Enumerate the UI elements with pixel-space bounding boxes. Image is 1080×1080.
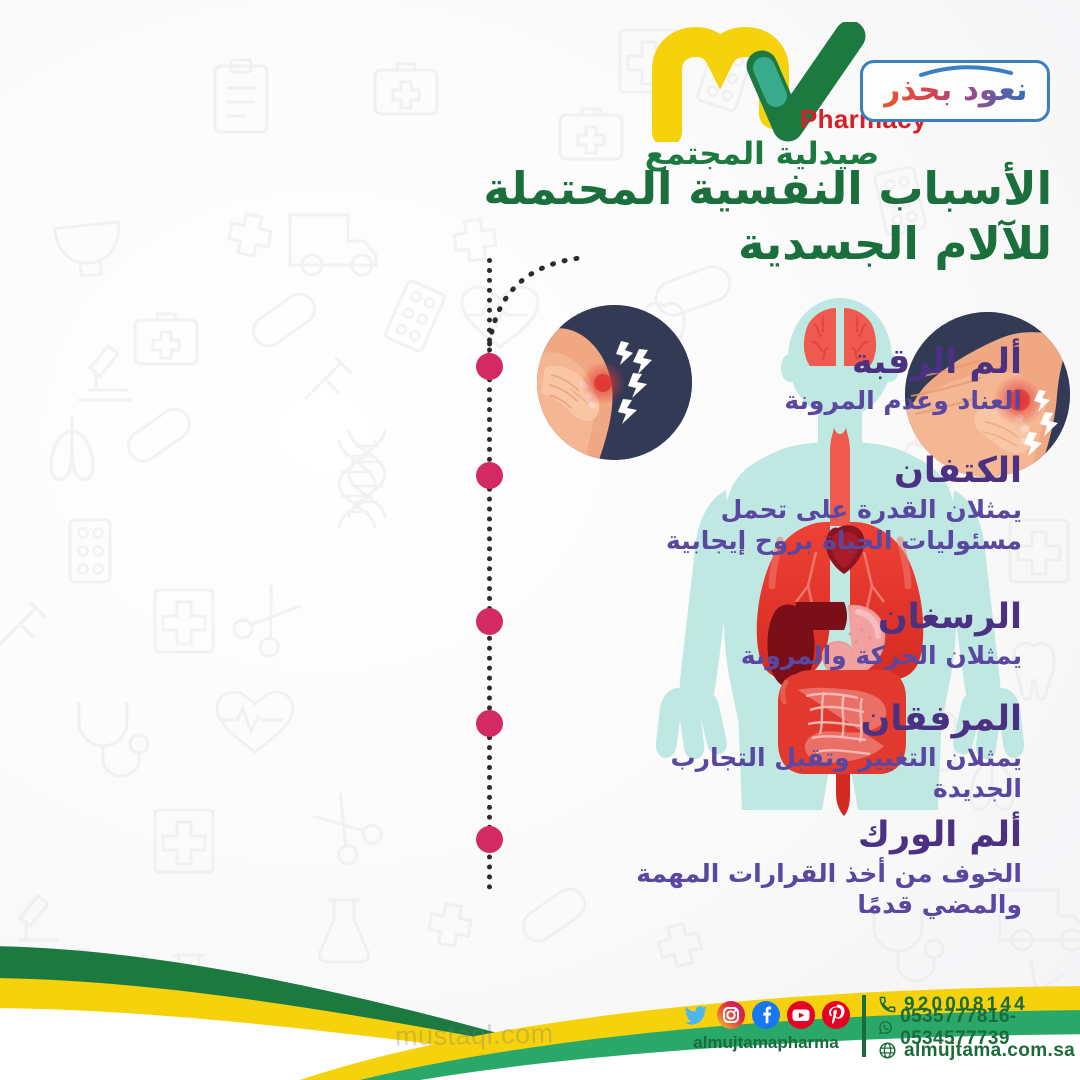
facebook-icon[interactable]	[751, 1000, 781, 1030]
badge-swoosh-icon	[861, 63, 1047, 121]
social-handle: almujtamapharma	[676, 1033, 856, 1053]
list-item-title: الرسغان	[592, 597, 1022, 638]
page-title-line2: للآلام الجسدية	[432, 217, 1052, 272]
timeline-dot-3	[476, 608, 503, 635]
list-item-desc: يمثلان القدرة على تحمل مسئوليات الحياة ب…	[592, 494, 1022, 557]
svg-text:صيدلية المجتمع ..... ا: صيدلية المجتمع ..... الريادة في خدمة الم…	[430, 862, 444, 869]
contact-row-whatsapp[interactable]: 0535777816-0534577739	[878, 1016, 1080, 1039]
list-item: الكتفان يمثلان القدرة على تحمل مسئوليات …	[592, 451, 1022, 557]
twitter-icon[interactable]	[681, 1000, 711, 1030]
timeline-dot-2	[476, 462, 503, 489]
list-item-title: ألم الرقبة	[592, 342, 1022, 383]
page-title-line1: الأسباب النفسية المحتملة	[432, 162, 1052, 217]
slogan-green-part: صيدلية المجتمع .....	[430, 862, 443, 869]
social-media-block: almujtamapharma	[676, 1000, 856, 1053]
youtube-icon[interactable]	[786, 1000, 816, 1030]
contact-row-website[interactable]: almujtama.com.sa	[878, 1039, 1080, 1062]
timeline-dot-4	[476, 710, 503, 737]
list-item: ألم الرقبة العناد وعدم المرونة	[592, 342, 1022, 416]
list-item-title: الكتفان	[592, 451, 1022, 492]
page-title: الأسباب النفسية المحتملة للآلام الجسدية	[432, 162, 1052, 272]
list-item-title: المرفقان	[592, 699, 1022, 740]
whatsapp-icon	[878, 1018, 893, 1037]
phone-icon	[878, 995, 897, 1014]
list-item: الرسغان يمثلان الحركة والمرونة	[592, 597, 1022, 671]
list-item-title: ألم الورك	[592, 815, 1022, 856]
slogan-yellow-part: الريادة في خدمة المجتمع	[430, 862, 444, 869]
website-url: almujtama.com.sa	[904, 1040, 1075, 1062]
list-item: ألم الورك الخوف من أخذ القرارات المهمة و…	[592, 815, 1022, 921]
instagram-icon[interactable]	[716, 1000, 746, 1030]
list-item-desc: الخوف من أخذ القرارات المهمة والمضي قدمً…	[592, 858, 1022, 921]
contact-details: 920008144 0535777816-0534577739 almujtam…	[878, 993, 1080, 1062]
timeline-dot-5	[476, 826, 503, 853]
return-with-caution-badge: نعود بحذر	[860, 60, 1050, 122]
list-item-desc: العناد وعدم المرونة	[592, 385, 1022, 417]
watermark: mustaql.com	[395, 1019, 554, 1053]
list-item-desc: يمثلان الحركة والمرونة	[592, 640, 1022, 672]
pinterest-icon[interactable]	[821, 1000, 851, 1030]
list-item-desc: يمثلان التغيير وتقبل التجارب الجديدة	[592, 742, 1022, 805]
infographic-poster: Pharmacy صيدلية المجتمع نعود بحذر الأسبا…	[0, 0, 1080, 1080]
social-icons-row	[676, 1000, 856, 1030]
footer-divider	[862, 995, 866, 1057]
timeline-dot-1	[476, 353, 503, 380]
globe-icon	[878, 1041, 897, 1060]
list-item: المرفقان يمثلان التغيير وتقبل التجارب ال…	[592, 699, 1022, 805]
